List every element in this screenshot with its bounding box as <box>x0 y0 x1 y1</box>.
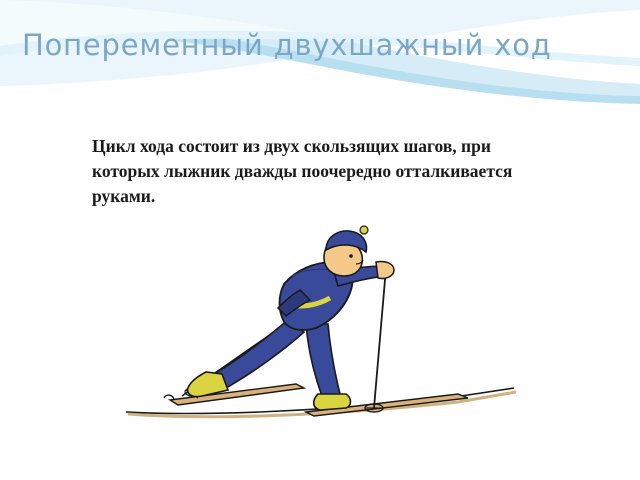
page-title: Попеременный двухшажный ход <box>22 27 622 64</box>
slide-body-text: Цикл хода состоит из двух скользящих шаг… <box>92 134 562 209</box>
skier-illustration <box>118 212 522 442</box>
front-pole <box>365 268 386 412</box>
slide: Попеременный двухшажный ход Цикл хода со… <box>0 0 640 480</box>
skier-figure <box>118 212 522 442</box>
